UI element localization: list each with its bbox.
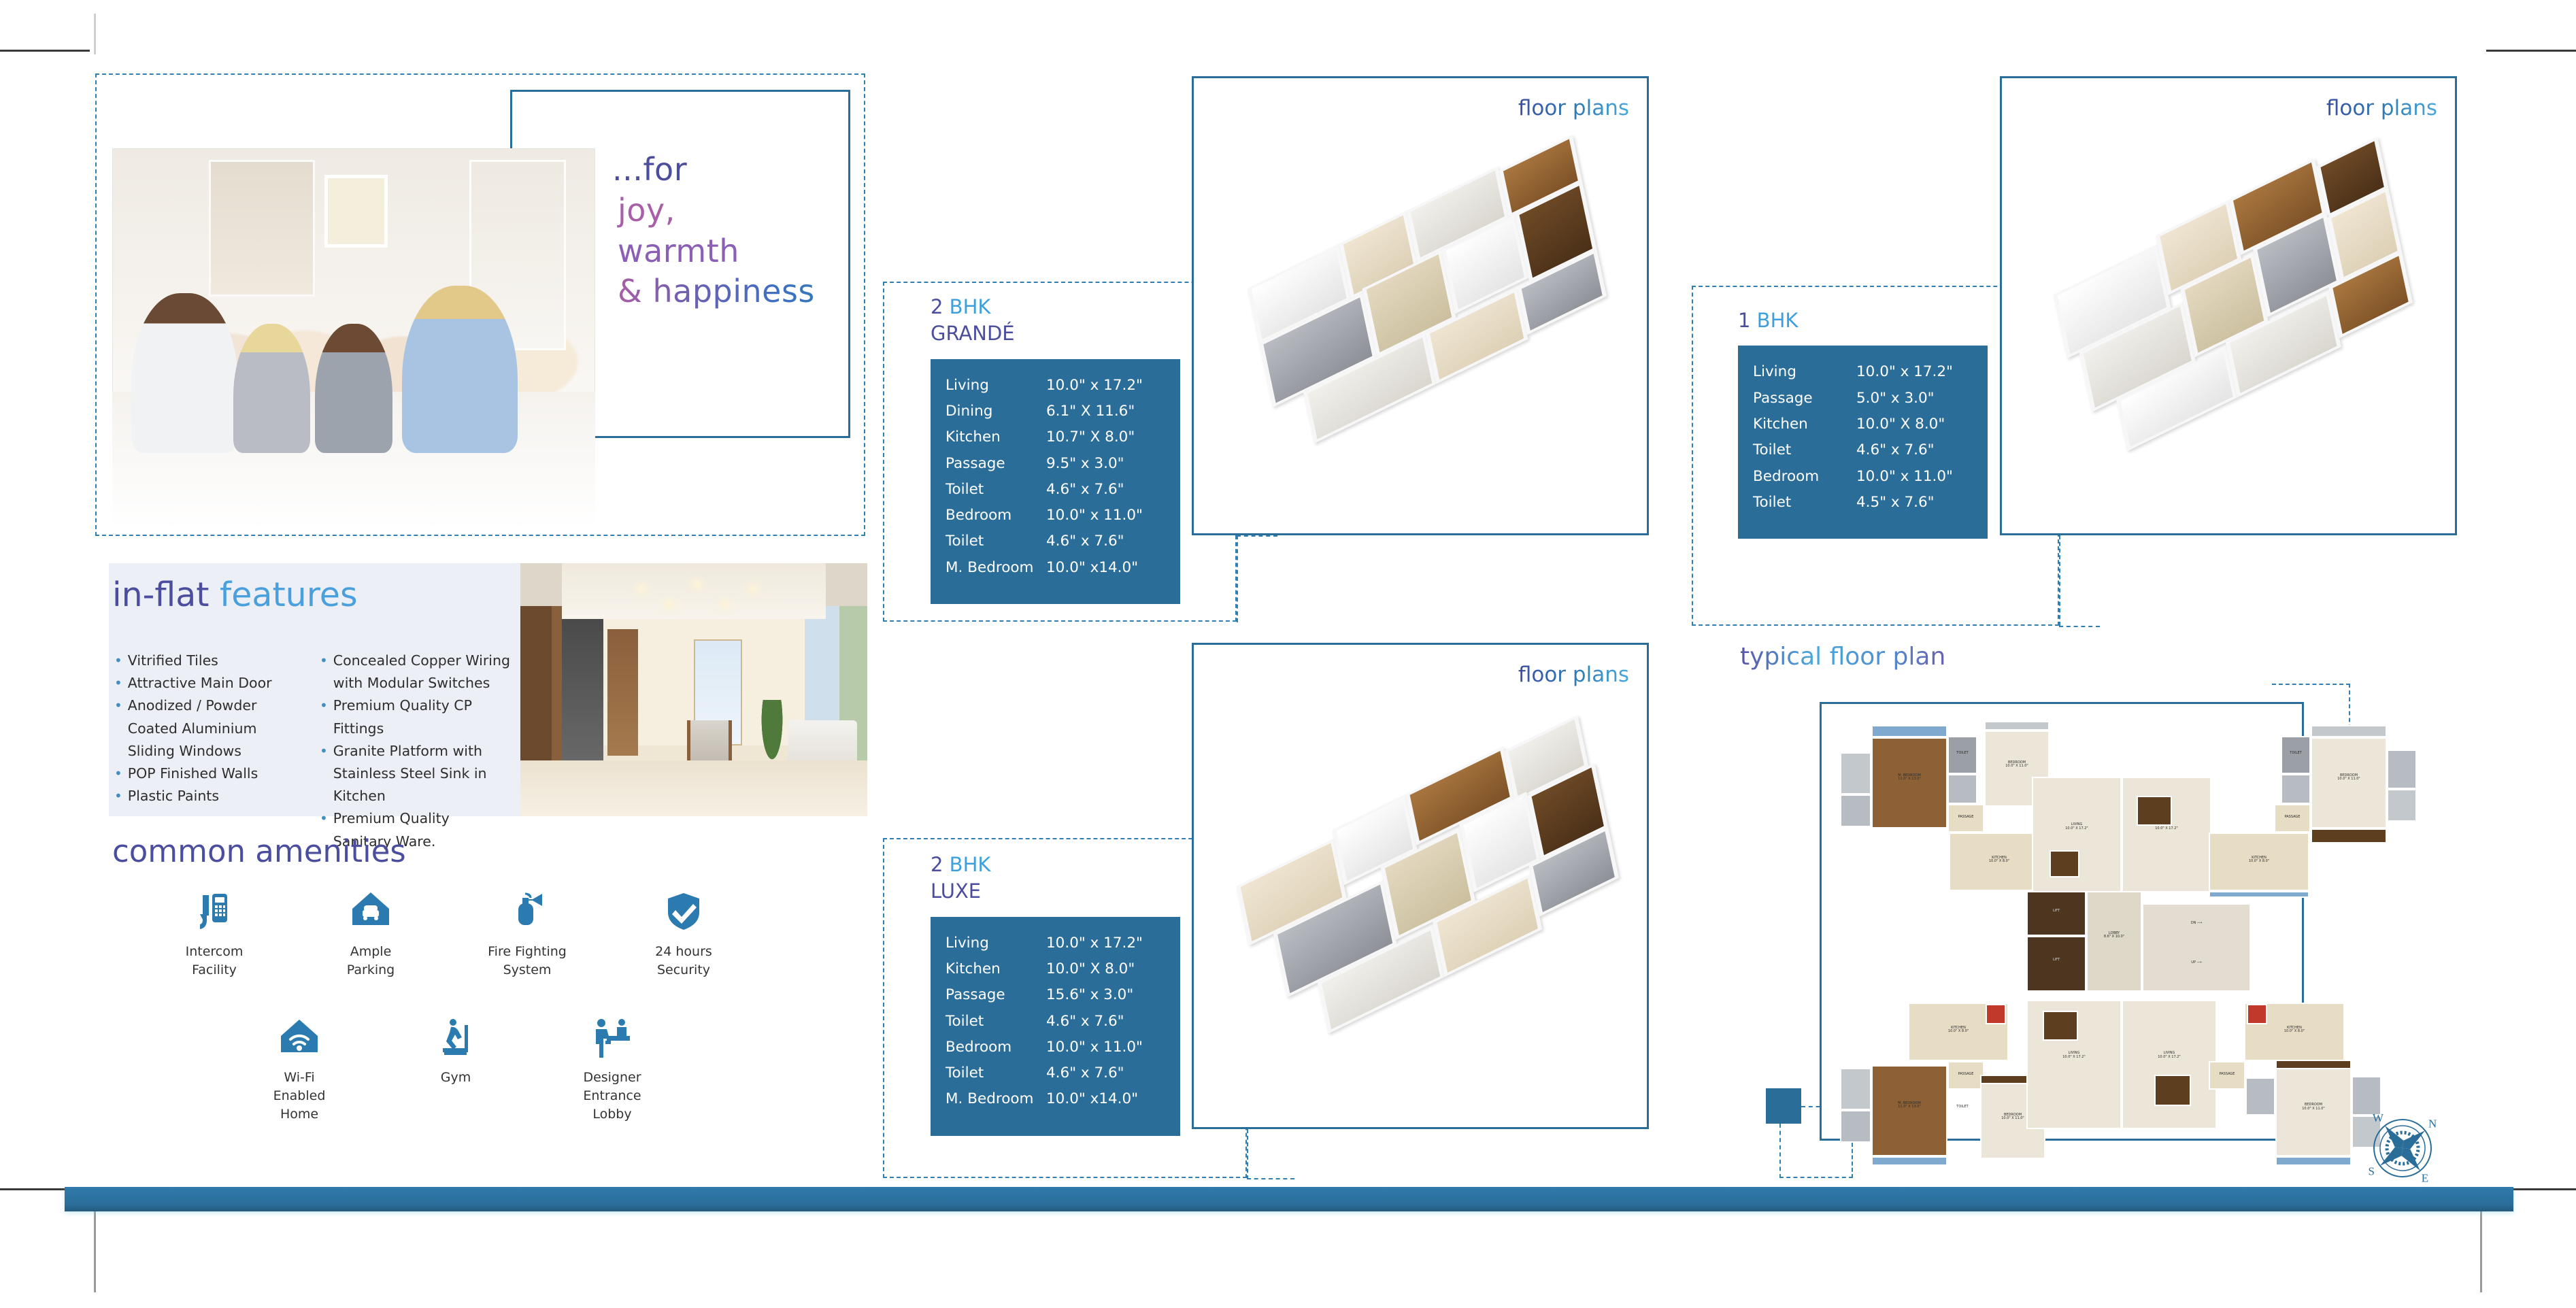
spec-room-dimension: 10.0" x 17.2" (1046, 373, 1143, 399)
spec-room-name: Living (1753, 359, 1856, 385)
feature-list-item: •Anodized / Powder Coated Aluminium Slid… (114, 694, 305, 762)
bullet-icon: • (320, 650, 328, 694)
feature-list-item-label: Plastic Paints (128, 785, 219, 807)
wifi-home-icon (258, 1010, 340, 1062)
connector-elbow-1bhk-top (2059, 626, 2100, 627)
amenities-row-2: Wi-Fi Enabled Home Gym (258, 1010, 653, 1124)
unit-central-core: LIFT LIFT LOBBY8.6" X 10.0" DN ⟶UP ⟶ (2026, 891, 2298, 1000)
bullet-icon: • (114, 785, 122, 807)
spec-bhk: BHK (950, 853, 991, 876)
connector-elbow-1bhk-left (2059, 535, 2060, 626)
connector-top-right-square (2272, 684, 2350, 685)
unit-bottom-left: KITCHEN10.0" X 8.0" M. BEDROOM11.0" X 13… (1840, 1003, 2044, 1166)
spec-room-name: Dining (946, 399, 1046, 424)
spec-table-row: Living10.0" x 17.2" (946, 930, 1165, 956)
feature-list-item-label: Concealed Copper Wiring with Modular Swi… (333, 650, 510, 694)
tagline-line-3: warmth (618, 231, 843, 272)
spec-room-dimension: 9.5" x 3.0" (1046, 451, 1124, 477)
spec-bhk: BHK (950, 295, 991, 318)
feature-list-item-label: POP Finished Walls (128, 762, 258, 785)
footer-bar (65, 1187, 2513, 1211)
bullet-icon: • (114, 762, 122, 785)
spec-room-name: Toilet (946, 1009, 1046, 1035)
amenity-fire-fighting: Fire Fighting System (486, 884, 568, 979)
amenity-label-line2: Enabled Home (258, 1087, 340, 1124)
spec-table-1bhk: Living10.0" x 17.2"Passage5.0" x 3.0"Kit… (1738, 346, 1988, 539)
spec-card-1bhk: 1 BHK Living10.0" x 17.2"Passage5.0" x 3… (1738, 307, 2010, 539)
amenity-label: Intercom Facility (173, 943, 255, 979)
tagline-line-1: ...for (612, 150, 843, 190)
amenities-row-1: Intercom Facility Ample Parking (173, 884, 724, 979)
spec-table-row: Toilet4.6" x 7.6" (1753, 437, 1973, 463)
feature-list-item: •Plastic Paints (114, 785, 305, 807)
crop-mark-vertical-right (2480, 1211, 2482, 1292)
spec-table-grande: Living10.0" x 17.2"Dining6.1" X 11.6"Kit… (931, 359, 1180, 604)
spec-room-name: Kitchen (1753, 412, 1856, 437)
compass-east: E (2422, 1171, 2428, 1184)
spec-room-name: M. Bedroom (946, 555, 1046, 581)
bullet-icon: • (114, 672, 122, 694)
amenity-label: 24 hours Security (643, 943, 724, 979)
features-column-left: •Vitrified Tiles•Attractive Main Door•An… (114, 650, 305, 853)
spec-room-dimension: 10.0" x 11.0" (1046, 503, 1143, 529)
photo-plant (760, 700, 784, 766)
feature-list-item: •Premium Quality CP Fittings (320, 694, 510, 739)
compass-rose-icon: N E S W (2355, 1101, 2450, 1196)
spec-table-row: Passage9.5" x 3.0" (946, 451, 1165, 477)
hero-family-photo (112, 148, 595, 529)
treadmill-icon (415, 1010, 497, 1062)
isometric-render-luxe (1194, 645, 1647, 1127)
photo-person-boy (233, 324, 311, 453)
typical-floor-plan-image: M. BEDROOM11.0" X 13.0" TOILET PASSAGE B… (1828, 710, 2296, 1133)
spec-table-row: Toilet4.5" x 7.6" (1753, 490, 1973, 516)
photo-ceiling (562, 563, 826, 619)
bullet-icon: • (320, 740, 328, 808)
spec-room-dimension: 4.6" x 7.6" (1046, 529, 1124, 554)
photo-wood-panel (607, 629, 639, 756)
spec-room-name: Passage (1753, 386, 1856, 412)
spec-room-name: Toilet (946, 477, 1046, 503)
spec-table-row: Living10.0" x 17.2" (946, 373, 1165, 399)
spec-room-dimension: 10.7" X 8.0" (1046, 424, 1135, 450)
connector-elbow-luxe-top (1247, 1178, 1294, 1179)
spec-table-row: Toilet4.6" x 7.6" (946, 1009, 1165, 1035)
feature-list-item: •Attractive Main Door (114, 672, 305, 694)
unit-top-right: KITCHEN10.0" X 8.0" PASSAGE TOILET BEDRO… (2209, 721, 2406, 891)
spec-table-row: Bedroom10.0" x 11.0" (946, 1035, 1165, 1060)
amenity-label-line1: Designer (571, 1069, 653, 1087)
amenity-label-line1: 24 hours (643, 943, 724, 961)
floor-plan-panel-1bhk: floor plans (2000, 76, 2457, 535)
spec-table-row: M. Bedroom10.0" x14.0" (946, 1086, 1165, 1112)
spec-table-row: Toilet4.6" x 7.6" (946, 1060, 1165, 1086)
spec-room-name: Toilet (1753, 490, 1856, 516)
typical-floor-plan-frame: M. BEDROOM11.0" X 13.0" TOILET PASSAGE B… (1820, 702, 2304, 1141)
compass-south: S (2369, 1165, 2375, 1178)
bullet-icon: • (114, 694, 122, 762)
photo-shelf-left (209, 160, 315, 297)
connector-bottom-left-square (1779, 1177, 1853, 1178)
spec-heading: 1 BHK (1738, 307, 2010, 334)
amenity-label-line1: Wi-Fi (258, 1069, 340, 1087)
photo-ceiling-light (722, 601, 729, 608)
photo-ceiling-light (694, 581, 701, 588)
spec-room-dimension: 10.0" x14.0" (1046, 555, 1138, 581)
photo-floor (520, 760, 867, 816)
spec-table-row: Kitchen10.0" X 8.0" (1753, 412, 1973, 437)
crop-mark-top-left (0, 50, 90, 52)
amenity-label: Ample Parking (330, 943, 412, 979)
spec-table-row: Bedroom10.0" x 11.0" (946, 503, 1165, 529)
spec-bhk: BHK (1757, 309, 1799, 332)
photo-ceiling-light (666, 601, 673, 608)
spec-card-grande: 2 BHK GRANDÉ Living10.0" x 17.2"Dining6.… (931, 294, 1203, 604)
amenity-label-line1: Ample (330, 943, 412, 961)
in-flat-features-title: in-flat features (112, 575, 357, 614)
spec-room-dimension: 4.6" x 7.6" (1046, 1009, 1124, 1035)
bullet-icon: • (114, 650, 122, 672)
spec-room-dimension: 10.0" x 17.2" (1856, 359, 1953, 385)
connector-vert-left-square (1779, 1124, 1781, 1178)
floor-plan-panel-luxe: floor plans (1192, 643, 1649, 1129)
spec-room-dimension: 5.0" x 3.0" (1856, 386, 1935, 412)
tagline-line-4: & happiness (618, 271, 843, 312)
feature-list-item: •Concealed Copper Wiring with Modular Sw… (320, 650, 510, 694)
feature-list-item-label: Premium Quality CP Fittings (333, 694, 510, 739)
amenity-gym: Gym (415, 1010, 497, 1124)
spec-num: 2 (931, 295, 950, 318)
spec-room-name: Bedroom (946, 503, 1046, 529)
decorative-square-left (1766, 1088, 1801, 1124)
lobby-interior-photo (520, 563, 867, 816)
intercom-icon (173, 884, 255, 936)
spec-room-name: Passage (946, 982, 1046, 1008)
amenity-label-line1: Gym (415, 1069, 497, 1087)
spec-room-dimension: 4.6" x 7.6" (1046, 1060, 1124, 1086)
amenity-parking: Ample Parking (330, 884, 412, 979)
amenity-label-line1: Fire Fighting (486, 943, 568, 961)
amenity-security: 24 hours Security (643, 884, 724, 979)
connector-elbow-grande-left (1237, 535, 1238, 622)
spec-heading: 2 BHK LUXE (931, 852, 1203, 905)
connector-elbow-luxe-left (1247, 1129, 1248, 1179)
spec-table-row: Kitchen10.0" X 8.0" (946, 956, 1165, 982)
feature-list-item-label: Anodized / Powder Coated Aluminium Slidi… (128, 694, 305, 762)
shield-check-icon (643, 884, 724, 936)
compass-north: N (2428, 1118, 2437, 1130)
spec-room-dimension: 15.6" x 3.0" (1046, 982, 1133, 1008)
compass-west: W (2373, 1111, 2384, 1124)
spec-room-dimension: 10.0" x 11.0" (1046, 1035, 1143, 1060)
spec-room-dimension: 10.0" x14.0" (1046, 1086, 1138, 1112)
features-columns: •Vitrified Tiles•Attractive Main Door•An… (114, 650, 522, 853)
fire-extinguisher-icon (486, 884, 568, 936)
amenity-label-line2: Entrance Lobby (571, 1087, 653, 1124)
spec-table-row: Passage15.6" x 3.0" (946, 982, 1165, 1008)
crop-mark-vertical-left-top (94, 14, 96, 54)
parking-icon (330, 884, 412, 936)
spec-room-name: Toilet (946, 529, 1046, 554)
amenity-entrance-lobby: Designer Entrance Lobby (571, 1010, 653, 1124)
amenity-label: Wi-Fi Enabled Home (258, 1069, 340, 1124)
crop-mark-top-right (2486, 50, 2576, 52)
photo-lift-door (562, 619, 603, 771)
spec-table-row: Dining6.1" X 11.6" (946, 399, 1165, 424)
spec-room-dimension: 10.0" x 17.2" (1046, 930, 1143, 956)
feature-list-item: •POP Finished Walls (114, 762, 305, 785)
tagline-line-2: joy, (618, 190, 843, 231)
amenity-label-line2: Security (643, 961, 724, 979)
spec-subtitle: GRANDÉ (931, 320, 1203, 347)
spec-card-luxe: 2 BHK LUXE Living10.0" x 17.2"Kitchen10.… (931, 852, 1203, 1136)
spec-table-row: Toilet4.6" x 7.6" (946, 477, 1165, 503)
photo-person-mother (402, 286, 518, 453)
photo-person-girl (315, 324, 392, 453)
amenity-label-line2: System (486, 961, 568, 979)
floor-plan-panel-grande: floor plans (1192, 76, 1649, 535)
spec-room-name: Living (946, 930, 1046, 956)
unit-top-left: M. BEDROOM11.0" X 13.0" TOILET PASSAGE B… (1840, 721, 2037, 891)
photo-wall-frame (324, 175, 387, 247)
spec-room-name: Kitchen (946, 956, 1046, 982)
spec-room-name: Kitchen (946, 424, 1046, 450)
spec-room-dimension: 4.5" x 7.6" (1856, 490, 1935, 516)
spec-room-name: Toilet (946, 1060, 1046, 1086)
photo-person-father (131, 293, 237, 453)
features-column-right: •Concealed Copper Wiring with Modular Sw… (320, 650, 510, 853)
typical-floor-plan-title: typical floor plan (1740, 643, 1945, 671)
spec-room-dimension: 6.1" X 11.6" (1046, 399, 1135, 424)
amenity-intercom: Intercom Facility (173, 884, 255, 979)
amenity-label: Designer Entrance Lobby (571, 1069, 653, 1124)
spec-room-name: M. Bedroom (946, 1086, 1046, 1112)
spec-room-dimension: 4.6" x 7.6" (1856, 437, 1935, 463)
spec-room-name: Living (946, 373, 1046, 399)
spec-table-row: Living10.0" x 17.2" (1753, 359, 1973, 385)
spec-room-dimension: 4.6" x 7.6" (1046, 477, 1124, 503)
unit-living-bottom-right: LIVING10.0" X 17.2" (2122, 1000, 2217, 1129)
unit-living-top-right: LIVING10.0" X 17.2" (2122, 777, 2211, 892)
brochure-page: ...for joy, warmth & happiness in-flat f… (0, 0, 2576, 1308)
amenity-label: Gym (415, 1069, 497, 1087)
amenity-wifi: Wi-Fi Enabled Home (258, 1010, 340, 1124)
common-amenities-title: common amenities (112, 833, 406, 869)
feature-list-item: •Vitrified Tiles (114, 650, 305, 672)
reception-desk-icon (571, 1010, 653, 1062)
features-title-part2: features (220, 575, 357, 614)
feature-list-item: •Granite Platform with Stainless Steel S… (320, 740, 510, 808)
spec-num: 1 (1738, 309, 1757, 332)
spec-heading: 2 BHK GRANDÉ (931, 294, 1203, 348)
spec-subtitle: LUXE (931, 878, 1203, 905)
spec-room-dimension: 10.0" X 8.0" (1046, 956, 1135, 982)
spec-table-row: M. Bedroom10.0" x14.0" (946, 555, 1165, 581)
spec-table-row: Passage5.0" x 3.0" (1753, 386, 1973, 412)
feature-list-item-label: Vitrified Tiles (128, 650, 218, 672)
amenity-label-line2: Parking (330, 961, 412, 979)
spec-table-luxe: Living10.0" x 17.2"Kitchen10.0" X 8.0"Pa… (931, 917, 1180, 1136)
amenity-label: Fire Fighting System (486, 943, 568, 979)
features-title-part1: in-flat (112, 575, 220, 614)
spec-table-row: Toilet4.6" x 7.6" (946, 529, 1165, 554)
isometric-render-1bhk (2002, 78, 2455, 533)
unit-living-top-left: LIVING10.0" X 17.2" (2032, 777, 2122, 892)
isometric-render-grande (1194, 78, 1647, 533)
spec-num: 2 (931, 853, 950, 876)
unit-living-bottom-left: LIVING10.0" X 17.2" (2026, 1000, 2122, 1129)
spec-room-name: Bedroom (946, 1035, 1046, 1060)
amenity-label-line2: Facility (173, 961, 255, 979)
connector-elbow-grande-top (1237, 535, 1277, 537)
spec-room-dimension: 10.0" X 8.0" (1856, 412, 1945, 437)
amenity-label-line1: Intercom (173, 943, 255, 961)
spec-room-dimension: 10.0" x 11.0" (1856, 464, 1953, 490)
spec-room-name: Passage (946, 451, 1046, 477)
bullet-icon: • (320, 694, 328, 739)
spec-room-name: Toilet (1753, 437, 1856, 463)
hero-tagline: ...for joy, warmth & happiness (612, 150, 843, 312)
feature-list-item-label: Granite Platform with Stainless Steel Si… (333, 740, 510, 808)
spec-table-row: Bedroom10.0" x 11.0" (1753, 464, 1973, 490)
spec-table-row: Kitchen10.7" X 8.0" (946, 424, 1165, 450)
feature-list-item-label: Attractive Main Door (128, 672, 272, 694)
crop-mark-vertical-left (94, 1211, 96, 1292)
spec-room-name: Bedroom (1753, 464, 1856, 490)
